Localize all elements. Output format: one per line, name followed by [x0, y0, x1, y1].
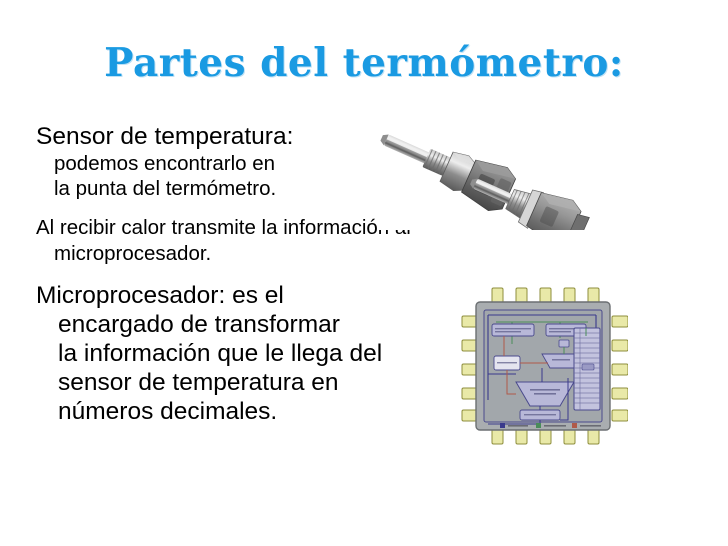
temperature-sensor-photo	[378, 108, 590, 230]
microprocesador-paragraph: Microprocesador: es el encargado de tran…	[36, 281, 466, 426]
microprocessor-diagram	[456, 282, 628, 450]
microprocesador-paragraph-line-1: Microprocesador: es el	[36, 281, 466, 310]
microprocesador-paragraph-line-5: números decimales.	[36, 397, 466, 426]
microprocesador-paragraph-line-3: la información que le llega del	[36, 339, 466, 368]
calor-paragraph-line-2: microprocesador.	[36, 241, 466, 267]
slide-title: Partes del termómetro:	[0, 40, 728, 86]
presentation-slide: Partes del termómetro: Sensor de tempera…	[0, 0, 728, 546]
microprocesador-paragraph-line-2: encargado de transformar	[36, 310, 466, 339]
microprocesador-paragraph-line-4: sensor de temperatura en	[36, 368, 466, 397]
